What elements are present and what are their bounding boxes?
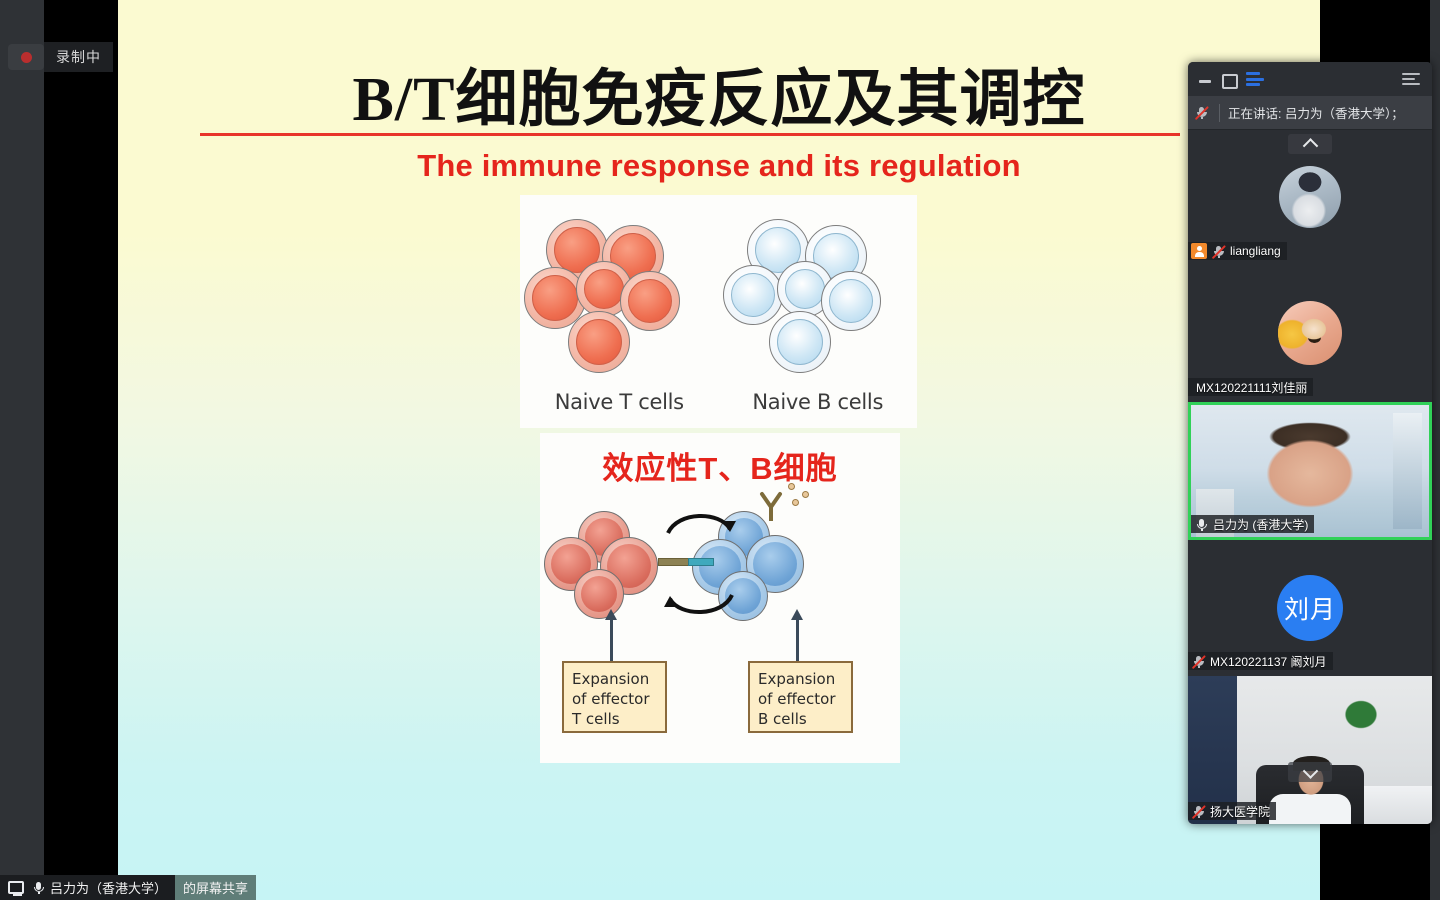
naive-cells-figure: Naive T cells Naive B cells [520,195,917,428]
microphone-icon [31,880,46,895]
expansion-arrow-t [610,619,613,661]
title-divider [200,133,1180,136]
host-badge-icon [1191,243,1207,259]
left-gutter [0,0,44,900]
status-bar-green-segment: 的屏幕共享 [175,875,256,900]
chevron-down-icon [1302,763,1318,779]
minimize-icon[interactable] [1198,72,1212,86]
status-bar-dark-segment[interactable]: 吕力为（香港大学） [0,875,175,900]
figure-caption-naive-b: Naive B cells [719,390,918,414]
antigen-particle [802,491,809,498]
participant-tile-liujiali[interactable]: MX120221111刘佳丽 [1188,266,1432,400]
expansion-t-cells-box: Expansion of effector T cells [562,661,667,733]
active-speaker-bar: 正在讲话: 吕力为（香港大学）； [1188,96,1432,130]
participant-name: 吕力为 (香港大学) [1213,516,1308,533]
antigen-particle [788,483,795,490]
effector-t-cell-cluster [544,511,672,621]
participants-panel[interactable]: 正在讲话: 吕力为（香港大学）； liangliang [1188,62,1432,824]
participant-name: MX120221137 阚刘月 [1210,653,1327,670]
expansion-b-line2: of effector [758,689,845,709]
recording-dot-icon [21,52,32,63]
figure-caption-naive-t: Naive T cells [520,390,719,414]
b-cell [769,311,831,373]
avatar [1279,166,1341,228]
participant-namebar: MX120221137 阚刘月 [1188,652,1333,670]
speaker-view-icon[interactable] [1246,72,1264,86]
t-cell [620,271,680,331]
participant-namebar: 吕力为 (香港大学) [1191,515,1314,533]
b-cell [821,271,881,331]
screen-share-icon [8,881,24,894]
participant-tile-lyuliwei[interactable]: 吕力为 (香港大学) [1188,402,1432,540]
sharer-name: 吕力为（香港大学） [50,878,167,897]
scroll-up-button[interactable] [1288,134,1332,154]
t-cell [568,311,630,373]
panel-options-icon[interactable] [1402,72,1422,86]
shared-screen-content[interactable]: B/T细胞免疫反应及其调控 The immune response and it… [118,0,1320,900]
participant-tile-yangdayixueyuan[interactable]: 扬大医学院 [1188,676,1432,824]
expansion-t-line3: T cells [572,709,659,729]
participant-name: 扬大医学院 [1210,803,1270,820]
effector-figure-heading: 效应性T、B细胞 [540,443,900,488]
participant-name: MX120221111刘佳丽 [1191,379,1307,396]
antibody-icon [758,491,784,521]
avatar-initials: 刘月 [1277,575,1343,641]
antigen-particle [792,499,799,506]
slide-title: B/T细胞免疫反应及其调控 [118,48,1320,138]
screen-share-status-bar: 吕力为（香港大学） 的屏幕共享 [0,875,256,900]
naive-b-cell-cluster [719,213,918,383]
recording-label-text: 录制中 [56,47,101,67]
panel-titlebar[interactable] [1188,62,1432,96]
zoom-meeting-window: 录制中 B/T细胞免疫反应及其调控 The immune response an… [0,0,1440,900]
effector-cells-figure: 效应性T、B细胞 [540,433,900,763]
microphone-muted-icon [1211,244,1226,259]
participant-namebar: MX120221111刘佳丽 [1188,378,1313,396]
expansion-b-line1: Expansion [758,669,845,689]
slide-subtitle: The immune response and its regulation [118,148,1320,184]
microphone-muted-icon [1194,105,1209,120]
expansion-t-line1: Expansion [572,669,659,689]
b-cell [723,265,783,325]
expansion-b-line3: B cells [758,709,845,729]
participant-namebar: 扬大医学院 [1188,802,1276,820]
participant-thumbnail-list[interactable]: liangliang MX120221111刘佳丽 [1188,130,1432,824]
participant-name: liangliang [1230,244,1281,258]
naive-t-cell-cluster [520,213,719,383]
avatar [1278,301,1342,365]
signal-arrow-backward-icon [664,591,736,621]
microphone-active-icon [1194,517,1209,532]
expansion-t-line2: of effector [572,689,659,709]
maximize-icon[interactable] [1221,72,1235,86]
active-speaker-text: 正在讲话: 吕力为（香港大学）； [1228,103,1404,122]
sharing-status-text: 的屏幕共享 [183,878,248,897]
presentation-slide: B/T细胞免疫反应及其调控 The immune response and it… [118,0,1320,900]
participant-namebar: liangliang [1188,242,1287,260]
participant-tile-kanliuyue[interactable]: 刘月 MX120221137 阚刘月 [1188,542,1432,674]
signal-arrow-forward-icon [664,507,736,537]
tcr-mhc-synapse [658,555,714,569]
scroll-down-button[interactable] [1288,762,1332,782]
chevron-up-icon [1302,138,1318,154]
microphone-muted-icon [1191,804,1206,819]
expansion-arrow-b [796,619,799,661]
microphone-muted-icon [1191,654,1206,669]
recording-label: 录制中 [44,42,113,72]
recording-indicator-button[interactable] [8,44,44,70]
expansion-b-cells-box: Expansion of effector B cells [748,661,853,733]
